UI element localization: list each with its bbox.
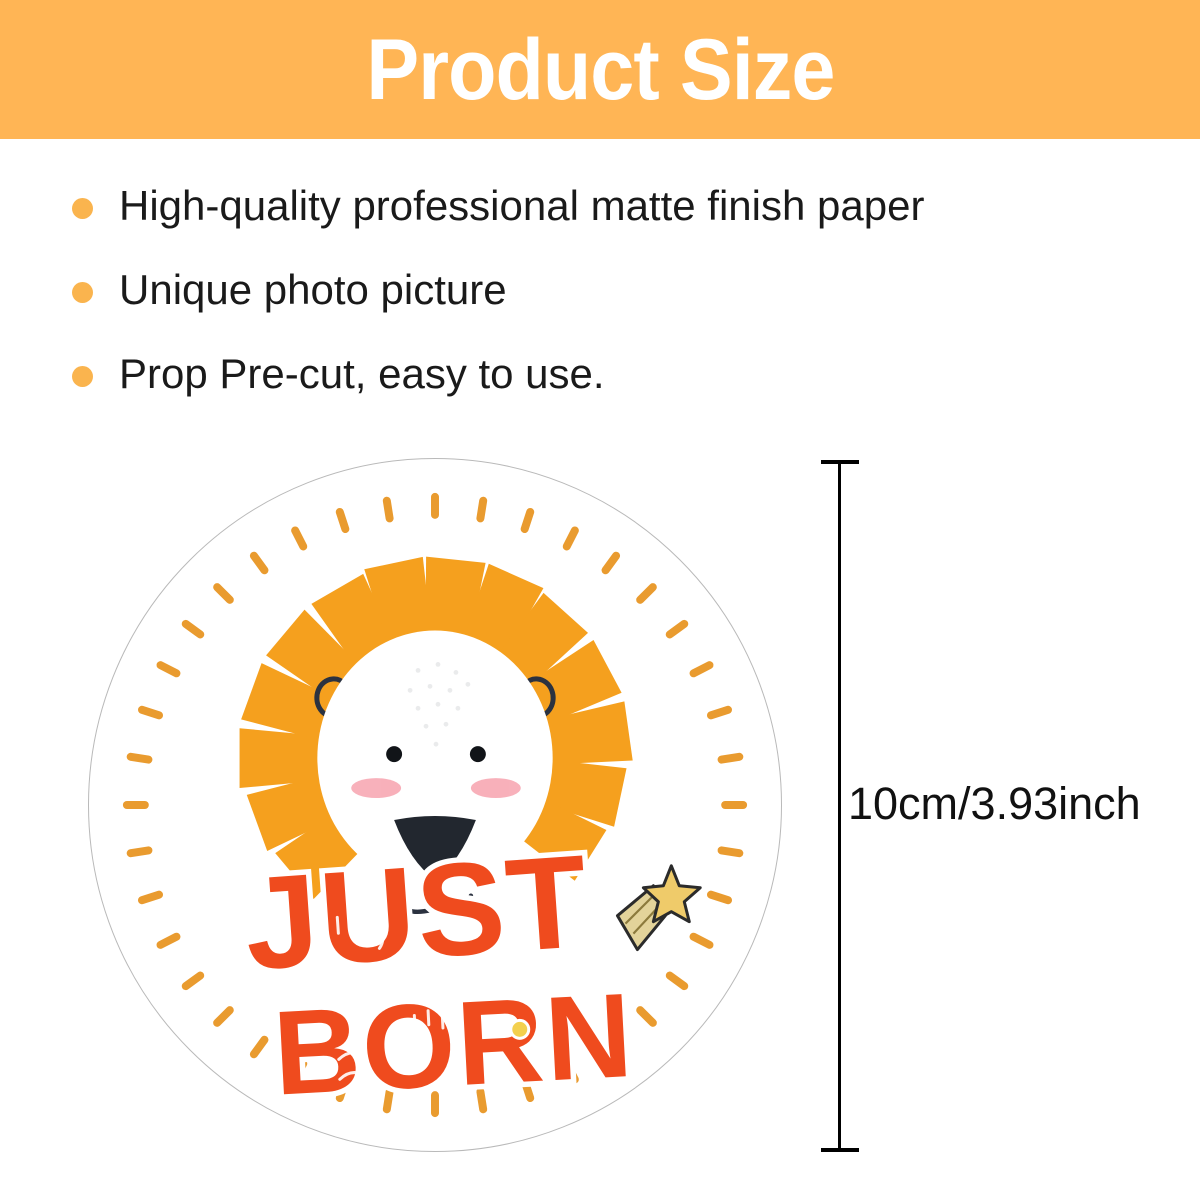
dimension-line [838,462,841,1152]
born-flower-dot [511,1020,529,1038]
feature-text: High-quality professional matte finish p… [119,180,924,232]
headline-born-text: BORN [270,969,637,1121]
product-sticker: JUST BORN [88,458,782,1152]
list-item: Unique photo picture [72,264,1152,348]
page-header-band: Product Size [0,0,1200,139]
dimension-cap-bottom [821,1148,859,1152]
headline-born: BORN [270,969,637,1121]
feature-text: Prop Pre-cut, easy to use. [119,348,605,400]
shooting-star-icon [617,866,700,950]
dimension-annotation: 10cm/3.93inch [820,458,1180,1156]
dimension-label: 10cm/3.93inch [848,778,1141,830]
feature-text: Unique photo picture [119,264,507,316]
bullet-dot-icon [72,198,93,219]
bullet-dot-icon [72,282,93,303]
headline-just-text: JUST [240,827,594,998]
feature-list: High-quality professional matte finish p… [72,180,1152,432]
list-item: High-quality professional matte finish p… [72,180,1152,264]
sticker-artwork: JUST BORN [89,459,781,1151]
headline-just: JUST [240,827,594,998]
bullet-dot-icon [72,366,93,387]
list-item: Prop Pre-cut, easy to use. [72,348,1152,432]
page-title: Product Size [366,27,834,113]
